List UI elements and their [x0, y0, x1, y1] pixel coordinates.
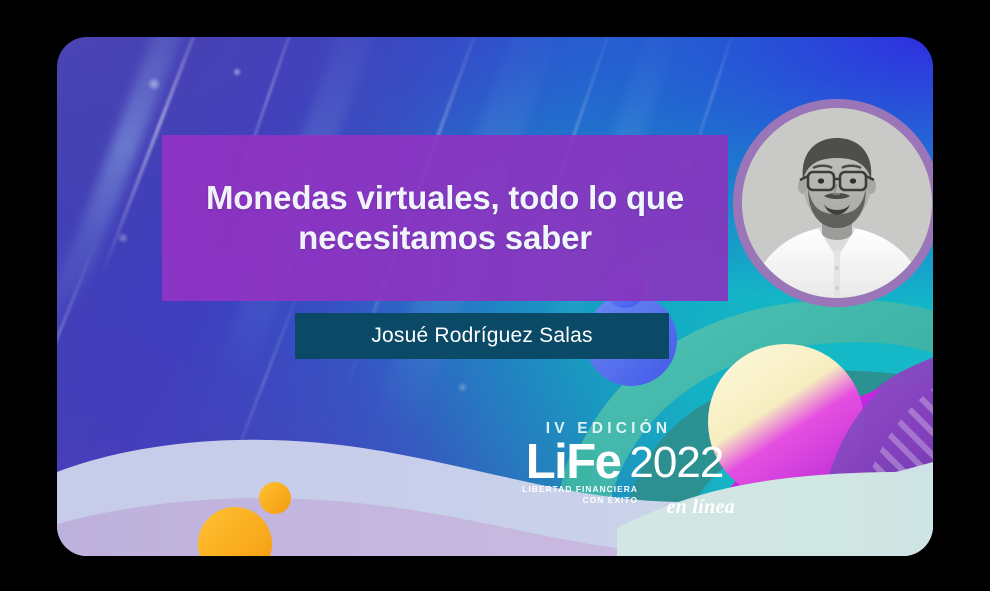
title-banner: Monedas virtuales, todo lo que necesitam… — [162, 135, 728, 301]
decorative-waves-bottom — [57, 376, 933, 556]
logo-online-text: en línea — [666, 496, 735, 519]
logo-edition-label: IV EDICIÓN — [480, 420, 737, 438]
logo-tagline-line2: CON ÉXITO — [512, 495, 638, 507]
speaker-portrait — [742, 108, 932, 298]
speaker-name: Josué Rodríguez Salas — [371, 324, 592, 348]
logo-tagline: LIBERTAD FINANCIERA CON ÉXITO — [512, 484, 638, 508]
logo-brand-text: LiFe — [526, 439, 621, 486]
logo-wordmark: LiFe 2022 — [512, 439, 737, 486]
speaker-name-bar: Josué Rodríguez Salas — [295, 313, 669, 359]
logo-tagline-line1: LIBERTAD FINANCIERA — [512, 484, 638, 496]
slide-canvas: Monedas virtuales, todo lo que necesitam… — [0, 0, 990, 591]
avatar — [733, 99, 933, 307]
event-logo: IV EDICIÓN LiFe 2022 LIBERTAD FINANCIERA… — [512, 420, 737, 515]
presentation-card: Monedas virtuales, todo lo que necesitam… — [57, 37, 933, 556]
logo-year-text: 2022 — [629, 441, 723, 485]
page-title: Monedas virtuales, todo lo que necesitam… — [162, 178, 728, 259]
